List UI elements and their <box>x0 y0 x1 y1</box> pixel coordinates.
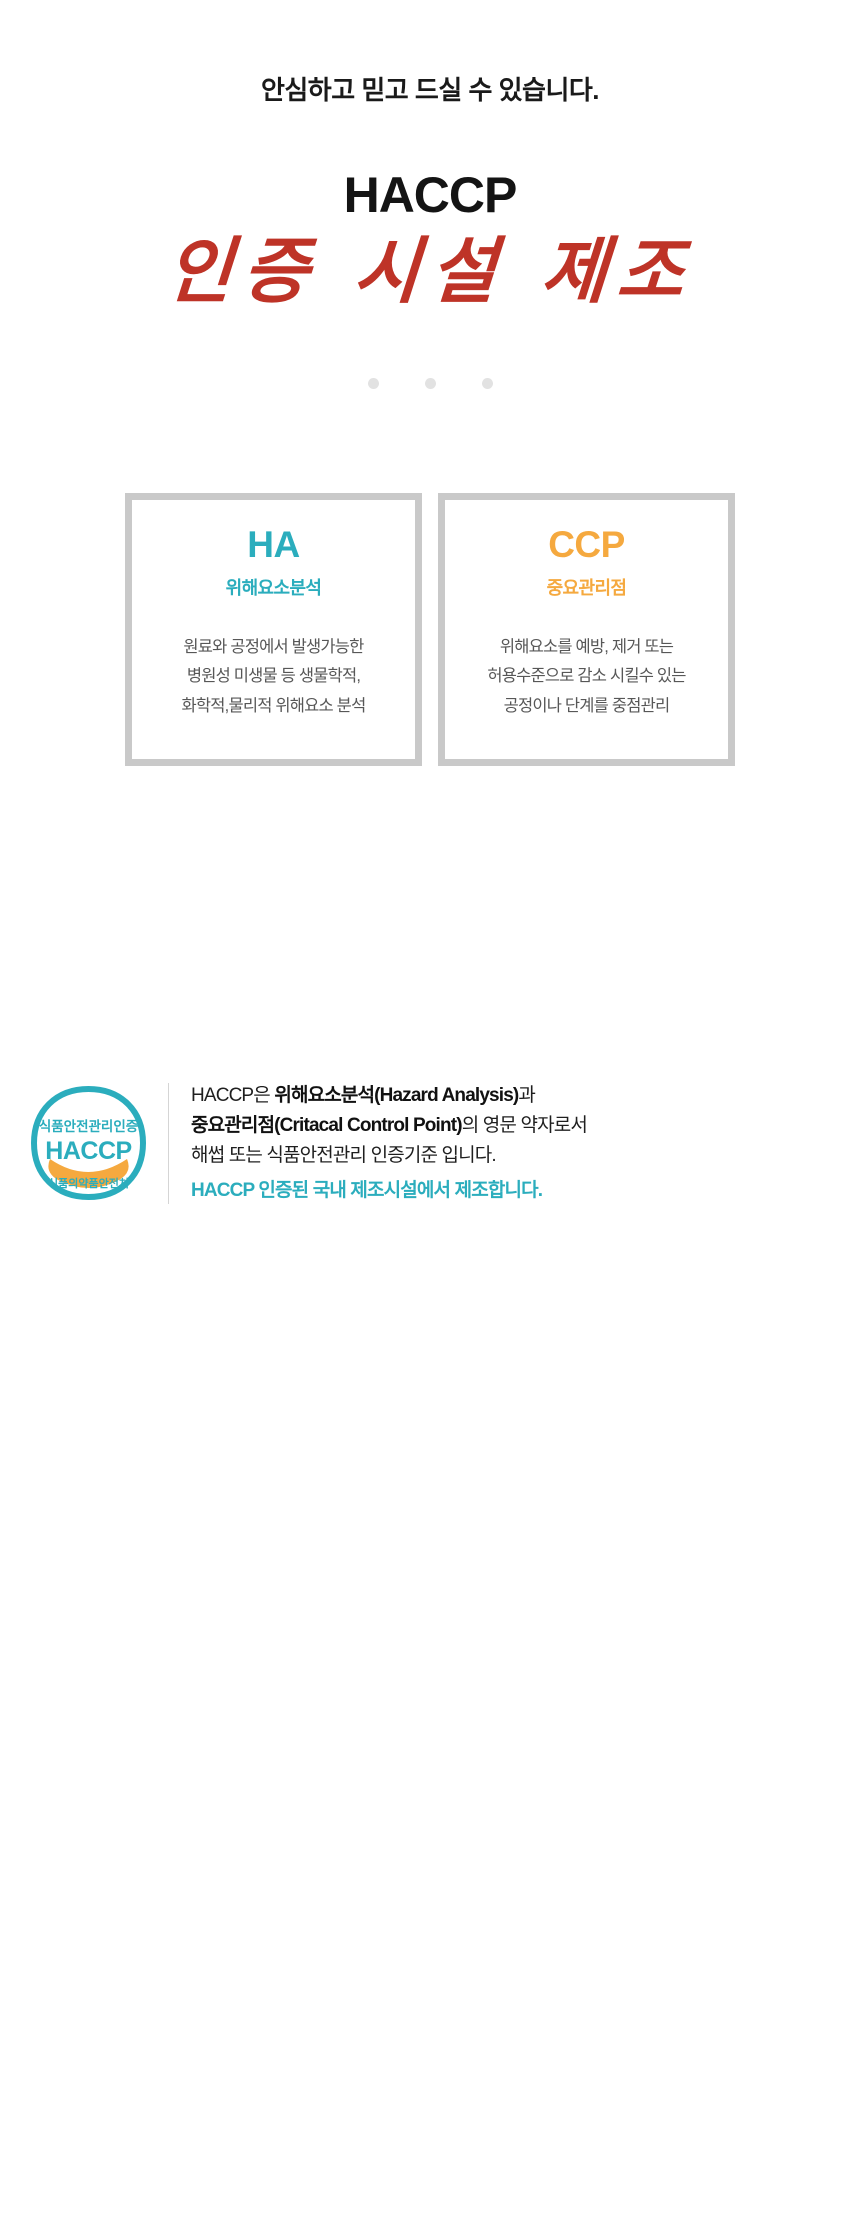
cert-line-1-plain-b: 과 <box>518 1085 535 1106</box>
badge-top-text: 식품안전관리인증 <box>39 1118 138 1134</box>
cert-description: HACCP은 위해요소분석(Hazard Analysis)과 중요관리점(Cr… <box>191 1079 587 1206</box>
badge-main-text: HACCP <box>45 1137 131 1165</box>
cert-line-2-bold: 중요관리점(Critacal Control Point) <box>191 1115 462 1136</box>
haccp-badge-icon: 식품안전관리인증 HACCP 식품의약품안전처 <box>26 1083 151 1208</box>
card-ha-body-line: 화학적,물리적 위해요소 분석 <box>182 692 366 721</box>
separator-dot <box>425 378 436 389</box>
card-ha-body-line: 원료와 공정에서 발생가능한 <box>182 633 366 662</box>
card-ccp-body: 위해요소를 예방, 제거 또는 허용수준으로 감소 시킬수 있는 공정이나 단계… <box>487 633 685 721</box>
cert-line-1-plain-a: HACCP은 <box>191 1085 274 1106</box>
card-ha: HA 위해요소분석 원료와 공정에서 발생가능한 병원성 미생물 등 생물학적,… <box>125 493 422 766</box>
card-ha-body: 원료와 공정에서 발생가능한 병원성 미생물 등 생물학적, 화학적,물리적 위… <box>182 633 366 721</box>
card-ha-subtitle: 위해요소분석 <box>226 574 322 600</box>
cert-line-1: HACCP은 위해요소분석(Hazard Analysis)과 <box>191 1081 587 1111</box>
card-ccp: CCP 중요관리점 위해요소를 예방, 제거 또는 허용수준으로 감소 시킬수 … <box>438 493 735 766</box>
card-ha-body-line: 병원성 미생물 등 생물학적, <box>182 662 366 691</box>
cert-line-1-bold: 위해요소분석(Hazard Analysis) <box>274 1085 518 1106</box>
photo-bottom-spicy-dish <box>0 1300 860 2214</box>
card-ccp-body-line: 공정이나 단계를 중점관리 <box>487 692 685 721</box>
brush-script-subtitle: 인증 시설 제조 <box>0 226 860 316</box>
dot-separator <box>0 378 860 389</box>
badge-bottom-text: 식품의약품안전처 <box>48 1176 129 1190</box>
page-header: 안심하고 믿고 드실 수 있습니다. HACCP 인증 시설 제조 <box>0 0 860 389</box>
separator-dot <box>368 378 379 389</box>
card-ccp-subtitle: 중요관리점 <box>547 574 627 600</box>
card-ccp-title: CCP <box>548 526 625 563</box>
cert-line-3: 해썹 또는 식품안전관리 인증기준 입니다. <box>191 1141 587 1171</box>
cert-line-accent: HACCP 인증된 국내 제조시설에서 제조합니다. <box>191 1176 587 1206</box>
cert-line-2: 중요관리점(Critacal Control Point)의 영문 약자로서 <box>191 1111 587 1141</box>
cert-line-2-plain: 의 영문 약자로서 <box>462 1115 587 1136</box>
separator-dot <box>482 378 493 389</box>
haccp-definition-cards: HA 위해요소분석 원료와 공정에서 발생가능한 병원성 미생물 등 생물학적,… <box>0 493 860 766</box>
card-ha-title: HA <box>247 526 299 563</box>
page-headline: 안심하고 믿고 드실 수 있습니다. <box>0 74 860 108</box>
card-ccp-body-line: 위해요소를 예방, 제거 또는 <box>487 633 685 662</box>
cert-vertical-divider <box>168 1083 169 1204</box>
card-ccp-body-line: 허용수준으로 감소 시킬수 있는 <box>487 662 685 691</box>
certification-strip: 식품안전관리인증 HACCP 식품의약품안전처 HACCP은 위해요소분석(Ha… <box>0 1079 860 1208</box>
haccp-certification-badge: 식품안전관리인증 HACCP 식품의약품안전처 <box>26 1083 151 1208</box>
image-watermark: 연출이미지입니다 <box>24 2183 94 2198</box>
haccp-title: HACCP <box>0 170 860 220</box>
